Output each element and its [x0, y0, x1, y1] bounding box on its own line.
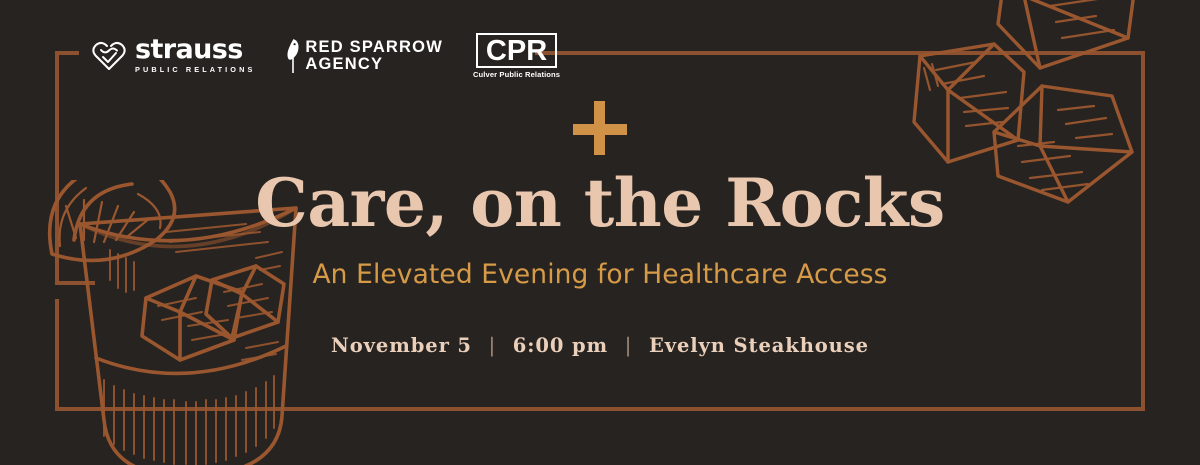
event-date: November 5: [331, 334, 472, 357]
plus-icon: [573, 101, 627, 155]
partner-logos: strauss PUBLIC RELATIONS RED SPARROW AGE…: [92, 30, 560, 82]
event-banner: strauss PUBLIC RELATIONS RED SPARROW AGE…: [0, 0, 1200, 465]
heart-swoosh-icon: [92, 41, 126, 71]
logo-strauss[interactable]: strauss PUBLIC RELATIONS: [92, 36, 255, 76]
logo-red-sparrow[interactable]: RED SPARROW AGENCY: [285, 38, 443, 74]
logo-strauss-wordmark: strauss: [135, 36, 255, 63]
logo-cpr-box: CPR: [476, 33, 557, 69]
logo-cpr[interactable]: CPR Culver Public Relations: [473, 33, 560, 80]
event-time: 6:00 pm: [513, 334, 608, 357]
logo-cpr-letters: CPR: [486, 36, 547, 67]
sparrow-bird-icon: [285, 38, 301, 74]
details-separator-2: |: [616, 334, 641, 357]
logo-strauss-tagline: PUBLIC RELATIONS: [135, 65, 255, 76]
event-title: Care, on the Rocks: [0, 170, 1200, 237]
plus-icon-vertical-bar: [594, 101, 605, 155]
event-details: November 5 | 6:00 pm | Evelyn Steakhouse: [0, 334, 1200, 357]
event-venue: Evelyn Steakhouse: [649, 334, 869, 357]
logo-red-sparrow-line1: RED SPARROW: [305, 39, 443, 56]
headline-block: Care, on the Rocks An Elevated Evening f…: [0, 170, 1200, 357]
logo-red-sparrow-line2: AGENCY: [305, 56, 443, 73]
event-subtitle: An Elevated Evening for Healthcare Acces…: [0, 259, 1200, 290]
logo-cpr-tagline: Culver Public Relations: [473, 70, 560, 79]
details-separator-1: |: [480, 334, 505, 357]
